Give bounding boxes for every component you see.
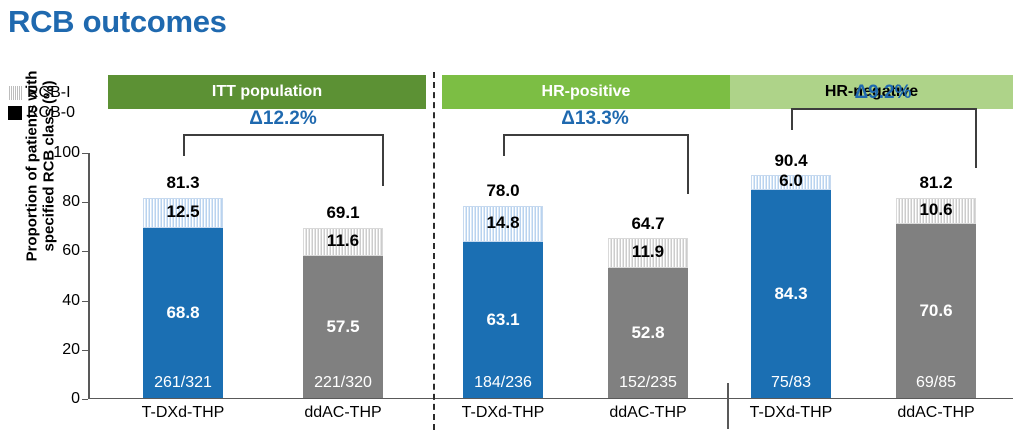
bar-hrpos-tdxd[interactable]: 14.8 63.1 184/236: [463, 206, 543, 398]
chart-plot-area: 12.5 68.8 261/321 81.3 11.6 57.5 221/320…: [88, 153, 1013, 399]
bar-total-hrneg-ddac: 81.2: [876, 173, 996, 193]
bar-segment-rcb-0-hrneg-ddac[interactable]: 70.6 69/85: [896, 224, 976, 398]
y-tick-label-100: 100: [53, 144, 80, 162]
x-label-hrneg-tdxd: T-DXd-THP: [726, 404, 856, 422]
bar-segment-rcb-0-hrpos-tdxd[interactable]: 63.1 184/236: [463, 242, 543, 397]
group-header-itt: ITT population: [108, 75, 426, 109]
bar-value-rcb-i-itt-ddac: 11.6: [327, 231, 359, 251]
delta-label-hrneg: Δ9.2%: [813, 82, 953, 104]
x-axis-line: [88, 398, 1013, 400]
group-header-label-itt: ITT population: [212, 83, 322, 101]
bar-total-itt-tdxd: 81.3: [123, 173, 243, 193]
bar-total-hrpos-ddac: 64.7: [588, 214, 708, 234]
bar-segment-rcb-0-itt-ddac[interactable]: 57.5 221/320: [303, 256, 383, 398]
delta-bracket-left-hrpos: [503, 134, 505, 156]
x-label-hrpos-tdxd: T-DXd-THP: [438, 404, 568, 422]
y-axis-line: [88, 153, 90, 399]
bar-value-rcb-i-hrpos-ddac: 11.9: [632, 242, 664, 262]
bar-segment-rcb-i-hrneg-ddac[interactable]: 10.6: [896, 198, 976, 224]
delta-bracket-top-itt: [183, 134, 383, 136]
y-tick-label-20: 20: [62, 341, 80, 359]
delta-bracket-top-hrneg: [791, 108, 976, 110]
bar-value-rcb-0-hrneg-ddac: 70.6: [919, 301, 952, 321]
group-header-hr-positive: HR-positive: [442, 75, 730, 109]
legend-swatch-rcb-0-icon: [8, 106, 22, 120]
bar-value-rcb-i-hrneg-ddac: 10.6: [919, 200, 952, 220]
bar-value-rcb-i-hrneg-tdxd: 6.0: [731, 171, 851, 191]
bar-segment-rcb-i-itt-tdxd[interactable]: 12.5: [143, 198, 223, 229]
bar-hrneg-tdxd[interactable]: 84.3 75/83 6.0: [751, 175, 831, 397]
bar-value-rcb-i-itt-tdxd: 12.5: [166, 202, 199, 222]
x-label-hrpos-ddac: ddAC-THP: [583, 404, 713, 422]
bar-itt-ddac[interactable]: 11.6 57.5 221/320: [303, 228, 383, 398]
delta-bracket-right-itt: [382, 134, 384, 186]
bar-total-hrpos-tdxd: 78.0: [443, 181, 563, 201]
y-axis-ticks: 100 80 60 40 20 0: [44, 153, 88, 399]
delta-label-itt: Δ12.2%: [213, 108, 353, 130]
y-tick-label-80: 80: [62, 193, 80, 211]
bar-total-itt-ddac: 69.1: [283, 203, 403, 223]
bar-ratio-hrpos-tdxd: 184/236: [463, 374, 543, 392]
bar-ratio-itt-tdxd: 261/321: [143, 374, 223, 392]
x-label-hrneg-ddac: ddAC-THP: [871, 404, 1001, 422]
bar-segment-rcb-i-itt-ddac[interactable]: 11.6: [303, 228, 383, 257]
y-axis-title-line1: Proportion of patients with: [24, 39, 41, 294]
bar-value-rcb-0-itt-ddac: 57.5: [326, 317, 359, 337]
page-title: RCB outcomes: [8, 4, 227, 40]
delta-label-hrpos: Δ13.3%: [525, 108, 665, 130]
y-tick-label-60: 60: [62, 242, 80, 260]
delta-bracket-right-hrpos: [687, 134, 689, 194]
delta-bracket-left-hrneg: [791, 108, 793, 130]
delta-bracket-left-itt: [183, 134, 185, 156]
bar-segment-rcb-0-hrneg-tdxd[interactable]: 84.3 75/83: [751, 190, 831, 397]
bar-itt-tdxd[interactable]: 12.5 68.8 261/321: [143, 198, 223, 398]
bar-ratio-hrneg-tdxd: 75/83: [751, 374, 831, 392]
bar-value-rcb-i-hrpos-tdxd: 14.8: [486, 213, 519, 233]
x-label-itt-tdxd: T-DXd-THP: [118, 404, 248, 422]
y-tickmark-0: [82, 399, 88, 400]
bar-value-rcb-0-itt-tdxd: 68.8: [166, 303, 199, 323]
bar-hrpos-ddac[interactable]: 11.9 52.8 152/235: [608, 238, 688, 397]
bar-value-rcb-0-hrpos-tdxd: 63.1: [486, 310, 519, 330]
bar-ratio-hrneg-ddac: 69/85: [896, 374, 976, 392]
y-tick-label-0: 0: [71, 390, 80, 408]
legend-swatch-rcb-i-icon: [8, 86, 22, 100]
x-label-itt-ddac: ddAC-THP: [278, 404, 408, 422]
group-header-label-hr-positive: HR-positive: [542, 83, 631, 101]
bar-value-rcb-0-hrpos-ddac: 52.8: [631, 323, 664, 343]
bar-hrneg-ddac[interactable]: 10.6 70.6 69/85: [896, 198, 976, 398]
bar-ratio-hrpos-ddac: 152/235: [608, 374, 688, 392]
bar-total-hrneg-tdxd: 90.4: [731, 151, 851, 171]
bar-segment-rcb-i-hrpos-tdxd[interactable]: 14.8: [463, 206, 543, 243]
bar-value-rcb-0-hrneg-tdxd: 84.3: [774, 284, 807, 304]
delta-bracket-right-hrneg: [975, 108, 977, 168]
bar-segment-rcb-i-hrpos-ddac[interactable]: 11.9: [608, 238, 688, 267]
group-divider-dashed: [433, 72, 435, 430]
bar-ratio-itt-ddac: 221/320: [303, 374, 383, 392]
delta-bracket-top-hrpos: [503, 134, 688, 136]
bar-segment-rcb-0-itt-tdxd[interactable]: 68.8 261/321: [143, 228, 223, 397]
y-tick-label-40: 40: [62, 292, 80, 310]
bar-segment-rcb-0-hrpos-ddac[interactable]: 52.8 152/235: [608, 268, 688, 398]
